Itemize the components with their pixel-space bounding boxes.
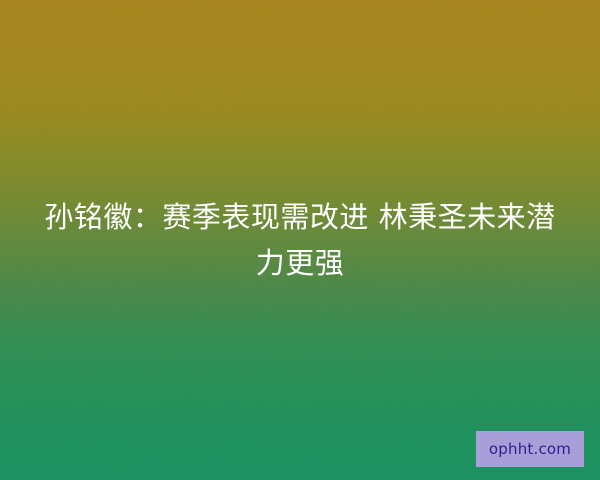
headline-container: 孙铭徽：赛季表现需改进 林秉圣未来潜力更强 [0, 0, 600, 480]
watermark-label: ophht.com [489, 442, 571, 457]
thumbnail-card: 孙铭徽：赛季表现需改进 林秉圣未来潜力更强 ophht.com [0, 0, 600, 480]
watermark-badge[interactable]: ophht.com [476, 431, 584, 467]
headline-text: 孙铭徽：赛季表现需改进 林秉圣未来潜力更强 [36, 194, 564, 286]
